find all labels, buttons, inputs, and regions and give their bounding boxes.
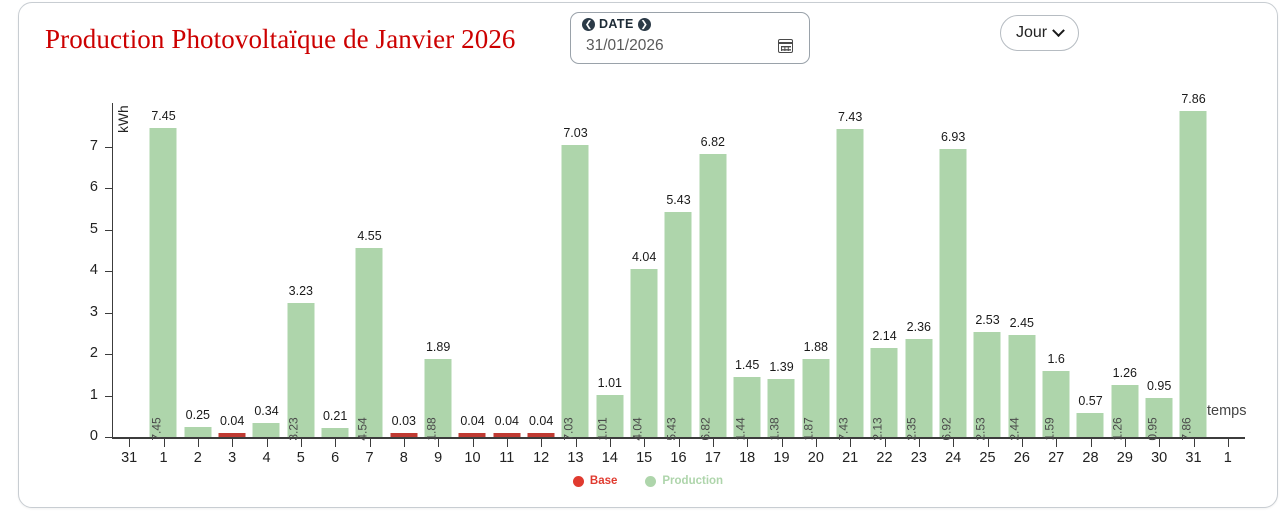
bar-inner-label: 2.35: [905, 417, 919, 440]
bar-inner-label: 2.44: [1008, 417, 1022, 440]
bar-slot: 1.011.01: [593, 103, 627, 437]
bar-base-day-8[interactable]: [390, 433, 417, 437]
bar-value-label: 6.82: [701, 135, 725, 149]
bar-inner-label: 5.43: [664, 417, 678, 440]
bar-value-label: 5.43: [666, 193, 690, 207]
date-picker-label: DATE: [599, 17, 634, 31]
bar-value-label: 7.03: [563, 126, 587, 140]
bar-slot: 4.044.04: [627, 103, 661, 437]
bar-slot: 3.233.23: [284, 103, 318, 437]
chevron-left-circle-icon[interactable]: ❮: [582, 18, 595, 31]
bar-slot: 1.591.6: [1039, 103, 1073, 437]
bar-production-day-29[interactable]: 1.26: [1111, 385, 1138, 437]
plot-area: kWh temps 01234567 7.457.450.250.040.343…: [94, 103, 1254, 509]
date-input-value[interactable]: 31/01/2026: [586, 37, 664, 55]
x-axis-tick: [1194, 438, 1195, 447]
x-axis-tick: [610, 438, 611, 447]
bar-production-day-14[interactable]: 1.01: [596, 395, 623, 437]
calendar-icon[interactable]: [778, 39, 793, 53]
bar-inner-label: 1.44: [733, 417, 747, 440]
bar-value-label: 0.34: [254, 404, 278, 418]
bar-slot: 1.871.88: [799, 103, 833, 437]
page-title: Production Photovoltaïque de Janvier 202…: [45, 24, 516, 55]
bar-inner-label: 2.53: [973, 417, 987, 440]
legend-color-swatch: [645, 476, 656, 487]
bar-slot: 0.04: [455, 103, 489, 437]
x-axis-tick: [679, 438, 680, 447]
bar-production-day-17[interactable]: 6.82: [699, 154, 726, 437]
x-axis-tick: [164, 438, 165, 447]
bar-production-day-4[interactable]: [253, 423, 280, 437]
x-axis-tick: [301, 438, 302, 447]
bar-slot: 0.03: [387, 103, 421, 437]
bar-inner-label: 4.54: [355, 417, 369, 440]
bar-slot: 4.544.55: [352, 103, 386, 437]
bar-inner-label: 6.92: [939, 417, 953, 440]
bar-inner-label: 6.82: [699, 417, 713, 440]
x-axis-tick: [953, 438, 954, 447]
bar-inner-label: 1.59: [1042, 417, 1056, 440]
bar-slot: 2.532.53: [970, 103, 1004, 437]
bar-value-label: 0.21: [323, 409, 347, 423]
bar-slot: 1.261.26: [1108, 103, 1142, 437]
bar-value-label: 1.89: [426, 340, 450, 354]
x-axis-tick-label: 1: [1208, 450, 1248, 466]
x-axis-tick: [576, 438, 577, 447]
bar-inner-label: 1.88: [424, 417, 438, 440]
bar-chart: kWh temps 01234567 7.457.450.250.040.343…: [49, 75, 1264, 495]
bar-production-day-31[interactable]: 7.86: [1180, 111, 1207, 437]
bar-slot: 2.442.45: [1005, 103, 1039, 437]
bar-value-label: 7.43: [838, 110, 862, 124]
bar-production-day-1[interactable]: 7.45: [150, 128, 177, 437]
bar-slot: 7.867.86: [1176, 103, 1210, 437]
bar-base-day-12[interactable]: [528, 433, 555, 437]
bar-slot: 0.04: [215, 103, 249, 437]
legend-color-swatch: [573, 476, 584, 487]
x-axis-tick: [747, 438, 748, 447]
x-axis-tick: [507, 438, 508, 447]
x-axis-tick: [1056, 438, 1057, 447]
bar-production-day-6[interactable]: [322, 428, 349, 437]
x-axis-tick: [644, 438, 645, 447]
x-axis-tick: [438, 438, 439, 447]
bar-production-day-30[interactable]: 0.95: [1146, 398, 1173, 437]
y-axis-tick-label: 3: [72, 304, 98, 320]
x-axis-tick: [404, 438, 405, 447]
y-axis-tick: [105, 437, 113, 438]
bar-production-day-22[interactable]: 2.13: [871, 348, 898, 437]
bar-value-label: 3.23: [289, 284, 313, 298]
bar-slot: 0.950.95: [1142, 103, 1176, 437]
x-axis-tick: [885, 438, 886, 447]
bar-inner-label: 7.86: [1179, 417, 1193, 440]
bar-inner-label: 2.13: [870, 417, 884, 440]
bar-production-day-9[interactable]: 1.88: [425, 359, 452, 437]
bar-slot: 7.437.43: [833, 103, 867, 437]
bar-slot: 1.881.89: [421, 103, 455, 437]
x-axis-tick: [1022, 438, 1023, 447]
bar-slot: 0.25: [181, 103, 215, 437]
bar-production-day-2[interactable]: [184, 427, 211, 437]
x-axis-tick: [1159, 438, 1160, 447]
bar-value-label: 6.93: [941, 130, 965, 144]
bar-base-day-3[interactable]: [219, 433, 246, 437]
bar-production-day-5[interactable]: 3.23: [287, 303, 314, 437]
y-axis-tick-label: 2: [72, 345, 98, 361]
x-axis-tick: [267, 438, 268, 447]
y-axis-tick-label: 5: [72, 221, 98, 237]
bar-inner-label: 1.87: [802, 417, 816, 440]
bar-value-label: 0.25: [186, 408, 210, 422]
bar-inner-label: 7.03: [561, 417, 575, 440]
bar-inner-label: 1.01: [596, 417, 610, 440]
chevron-down-icon: [1052, 24, 1065, 37]
bar-slot: 0.57: [1073, 103, 1107, 437]
granularity-select-value: Jour: [1016, 24, 1047, 42]
bar-value-label: 1.88: [804, 340, 828, 354]
bar-slot: 2.132.14: [867, 103, 901, 437]
x-axis-tick: [713, 438, 714, 447]
y-axis-tick-label: 1: [72, 387, 98, 403]
bar-production-day-15[interactable]: 4.04: [631, 269, 658, 437]
bar-production-day-19[interactable]: 1.38: [768, 379, 795, 437]
bar-slot: 0.21: [318, 103, 352, 437]
bar-value-label: 7.86: [1181, 92, 1205, 106]
bar-inner-label: 1.38: [767, 417, 781, 440]
legend-item-base[interactable]: Base: [573, 475, 618, 487]
bar-value-label: 0.57: [1078, 394, 1102, 408]
bar-production-day-13[interactable]: 7.03: [562, 145, 589, 437]
y-axis-tick-label: 0: [72, 428, 98, 444]
x-axis-tick: [232, 438, 233, 447]
bar-base-day-10[interactable]: [459, 433, 486, 437]
x-axis-tick: [1091, 438, 1092, 447]
bar-value-label: 2.53: [975, 313, 999, 327]
bar-value-label: 4.55: [357, 229, 381, 243]
chevron-right-circle-icon[interactable]: ❯: [638, 18, 651, 31]
bar-slot: 7.037.03: [558, 103, 592, 437]
bar-value-label: 0.04: [495, 414, 519, 428]
x-axis-tick: [816, 438, 817, 447]
bar-slot: 1.441.45: [730, 103, 764, 437]
bar-slot: 5.435.43: [661, 103, 695, 437]
date-picker-header: ❮ DATE ❯: [582, 17, 651, 31]
bar-slot: 1.381.39: [764, 103, 798, 437]
bar-inner-label: 7.43: [836, 417, 850, 440]
legend-label: Production: [662, 475, 723, 487]
bar-base-day-11[interactable]: [493, 433, 520, 437]
bar-value-label: 7.45: [151, 109, 175, 123]
bar-slot: 0.04: [490, 103, 524, 437]
x-axis-tick: [1125, 438, 1126, 447]
chart-legend: BaseProduction: [19, 475, 1277, 487]
bar-value-label: 2.45: [1010, 316, 1034, 330]
bar-value-label: 2.36: [907, 320, 931, 334]
x-axis-tick: [129, 438, 130, 447]
x-axis-tick: [370, 438, 371, 447]
bar-production-day-25[interactable]: 2.53: [974, 332, 1001, 437]
legend-label: Base: [590, 475, 618, 487]
bar-inner-label: 4.04: [630, 417, 644, 440]
bar-value-label: 1.26: [1113, 366, 1137, 380]
bar-slot: 6.826.82: [696, 103, 730, 437]
bar-slot: 7.457.45: [146, 103, 180, 437]
x-axis-tick: [1228, 438, 1229, 447]
bar-value-label: 1.39: [769, 360, 793, 374]
y-axis-tick-label: 7: [72, 138, 98, 154]
bar-production-day-16[interactable]: 5.43: [665, 212, 692, 437]
bar-production-day-21[interactable]: 7.43: [837, 129, 864, 437]
plot-inner: kWh temps 01234567 7.457.450.250.040.343…: [94, 103, 1254, 437]
bar-slot: 2.352.36: [902, 103, 936, 437]
bar-inner-label: 1.26: [1111, 417, 1125, 440]
bar-production-day-28[interactable]: [1077, 413, 1104, 437]
bar-production-day-24[interactable]: 6.92: [940, 149, 967, 437]
bar-slot: 0.04: [524, 103, 558, 437]
x-axis-tick: [988, 438, 989, 447]
bar-value-label: 0.03: [392, 414, 416, 428]
x-axis-tick: [541, 438, 542, 447]
chart-card: Production Photovoltaïque de Janvier 202…: [18, 2, 1278, 508]
photovoltaic-production-dashboard: Production Photovoltaïque de Janvier 202…: [0, 0, 1282, 513]
bar-production-day-18[interactable]: 1.44: [734, 377, 761, 437]
bar-inner-label: 3.23: [287, 417, 301, 440]
bar-value-label: 0.95: [1147, 379, 1171, 393]
bar-slot: 0.34: [249, 103, 283, 437]
bar-value-label: 1.45: [735, 358, 759, 372]
bar-slot: 6.926.93: [936, 103, 970, 437]
legend-item-production[interactable]: Production: [645, 475, 723, 487]
bar-value-label: 2.14: [872, 329, 896, 343]
x-axis-tick: [782, 438, 783, 447]
bar-inner-label: 7.45: [149, 417, 163, 440]
bar-value-label: 0.04: [460, 414, 484, 428]
y-axis-tick-label: 6: [72, 179, 98, 195]
date-picker[interactable]: ❮ DATE ❯ 31/01/2026: [570, 12, 810, 64]
x-axis-tick: [198, 438, 199, 447]
x-axis-tick: [473, 438, 474, 447]
bar-value-label: 1.6: [1047, 352, 1064, 366]
x-axis-tick: [335, 438, 336, 447]
bar-value-label: 4.04: [632, 250, 656, 264]
bar-value-label: 0.04: [529, 414, 553, 428]
granularity-select[interactable]: Jour: [1000, 15, 1079, 51]
bar-value-label: 1.01: [598, 376, 622, 390]
bar-value-label: 0.04: [220, 414, 244, 428]
bar-inner-label: 0.95: [1145, 417, 1159, 440]
bar-production-day-7[interactable]: 4.54: [356, 248, 383, 437]
bar-series-group: 7.457.450.250.040.343.233.230.214.544.55…: [112, 103, 1245, 437]
bar-production-day-20[interactable]: 1.87: [802, 359, 829, 437]
bar-production-day-27[interactable]: 1.59: [1043, 371, 1070, 437]
bar-production-day-23[interactable]: 2.35: [905, 339, 932, 437]
x-axis-tick: [850, 438, 851, 447]
bar-production-day-26[interactable]: 2.44: [1008, 335, 1035, 437]
x-axis-tick: [919, 438, 920, 447]
y-axis-tick-label: 4: [72, 262, 98, 278]
